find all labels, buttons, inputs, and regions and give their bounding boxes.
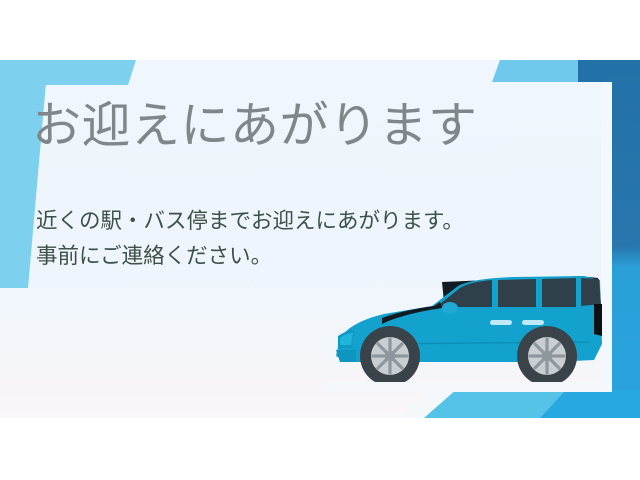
minivan-icon [322,252,612,392]
banner-body-line-1: 近くの駅・バス停までお迎えにあがります。 [36,205,464,240]
promo-banner: お迎えにあがります 近くの駅・バス停までお迎えにあがります。 事前にご連絡くださ… [0,0,640,480]
side-mirror [442,302,458,314]
front-door-window [498,279,536,307]
minivan-illustration [322,252,612,392]
rear-door-handle [522,320,544,325]
tail-light [594,304,602,336]
rear-wheel [517,326,577,386]
ground-mask [322,382,612,392]
banner-title: お迎えにあがります [32,100,478,153]
rear-door-window [542,278,576,307]
front-bumper [336,350,356,362]
front-wheel [360,326,420,386]
top-right-light-slab-decoration [492,60,588,82]
rear-quarter-window [581,278,601,306]
front-door-handle [490,320,512,325]
